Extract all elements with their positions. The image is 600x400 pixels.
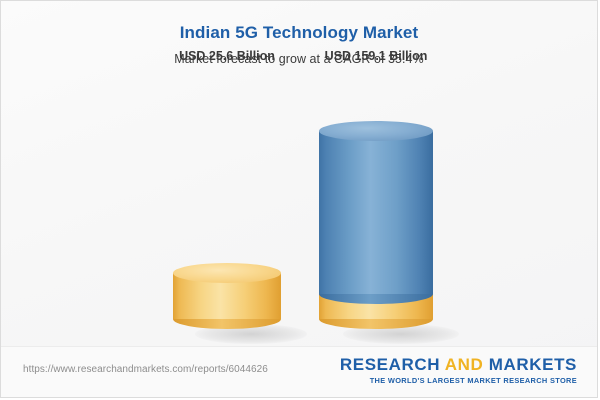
cylinder-body-2030 bbox=[319, 131, 433, 294]
logo-tagline: THE WORLD'S LARGEST MARKET RESEARCH STOR… bbox=[340, 376, 577, 385]
logo-word-and: AND bbox=[445, 355, 484, 374]
logo-word-research: RESEARCH bbox=[340, 355, 445, 374]
bar-group-2030: USD 159.1 Billion 2030 bbox=[319, 39, 433, 349]
cylinder-top-2024 bbox=[173, 263, 281, 283]
chart-card: Indian 5G Technology Market Market forec… bbox=[0, 0, 598, 398]
logo-word-markets: MARKETS bbox=[483, 355, 577, 374]
chart-plot-area: USD 25.6 Billion 2024 USD 159.1 Billion bbox=[1, 1, 597, 349]
cylinder-top-2030 bbox=[319, 121, 433, 141]
bar-group-2024: USD 25.6 Billion 2024 bbox=[173, 39, 281, 349]
cylinder-2024 bbox=[173, 263, 281, 339]
footer: https://www.researchandmarkets.com/repor… bbox=[1, 346, 597, 397]
report-url[interactable]: https://www.researchandmarkets.com/repor… bbox=[23, 364, 268, 375]
data-label-2030: USD 159.1 Billion bbox=[325, 49, 428, 63]
logo-wordmark: RESEARCH AND MARKETS bbox=[340, 356, 577, 374]
cylinder-2030 bbox=[319, 121, 433, 304]
research-and-markets-logo[interactable]: RESEARCH AND MARKETS THE WORLD'S LARGEST… bbox=[340, 356, 577, 385]
data-label-2024: USD 25.6 Billion bbox=[179, 49, 275, 63]
